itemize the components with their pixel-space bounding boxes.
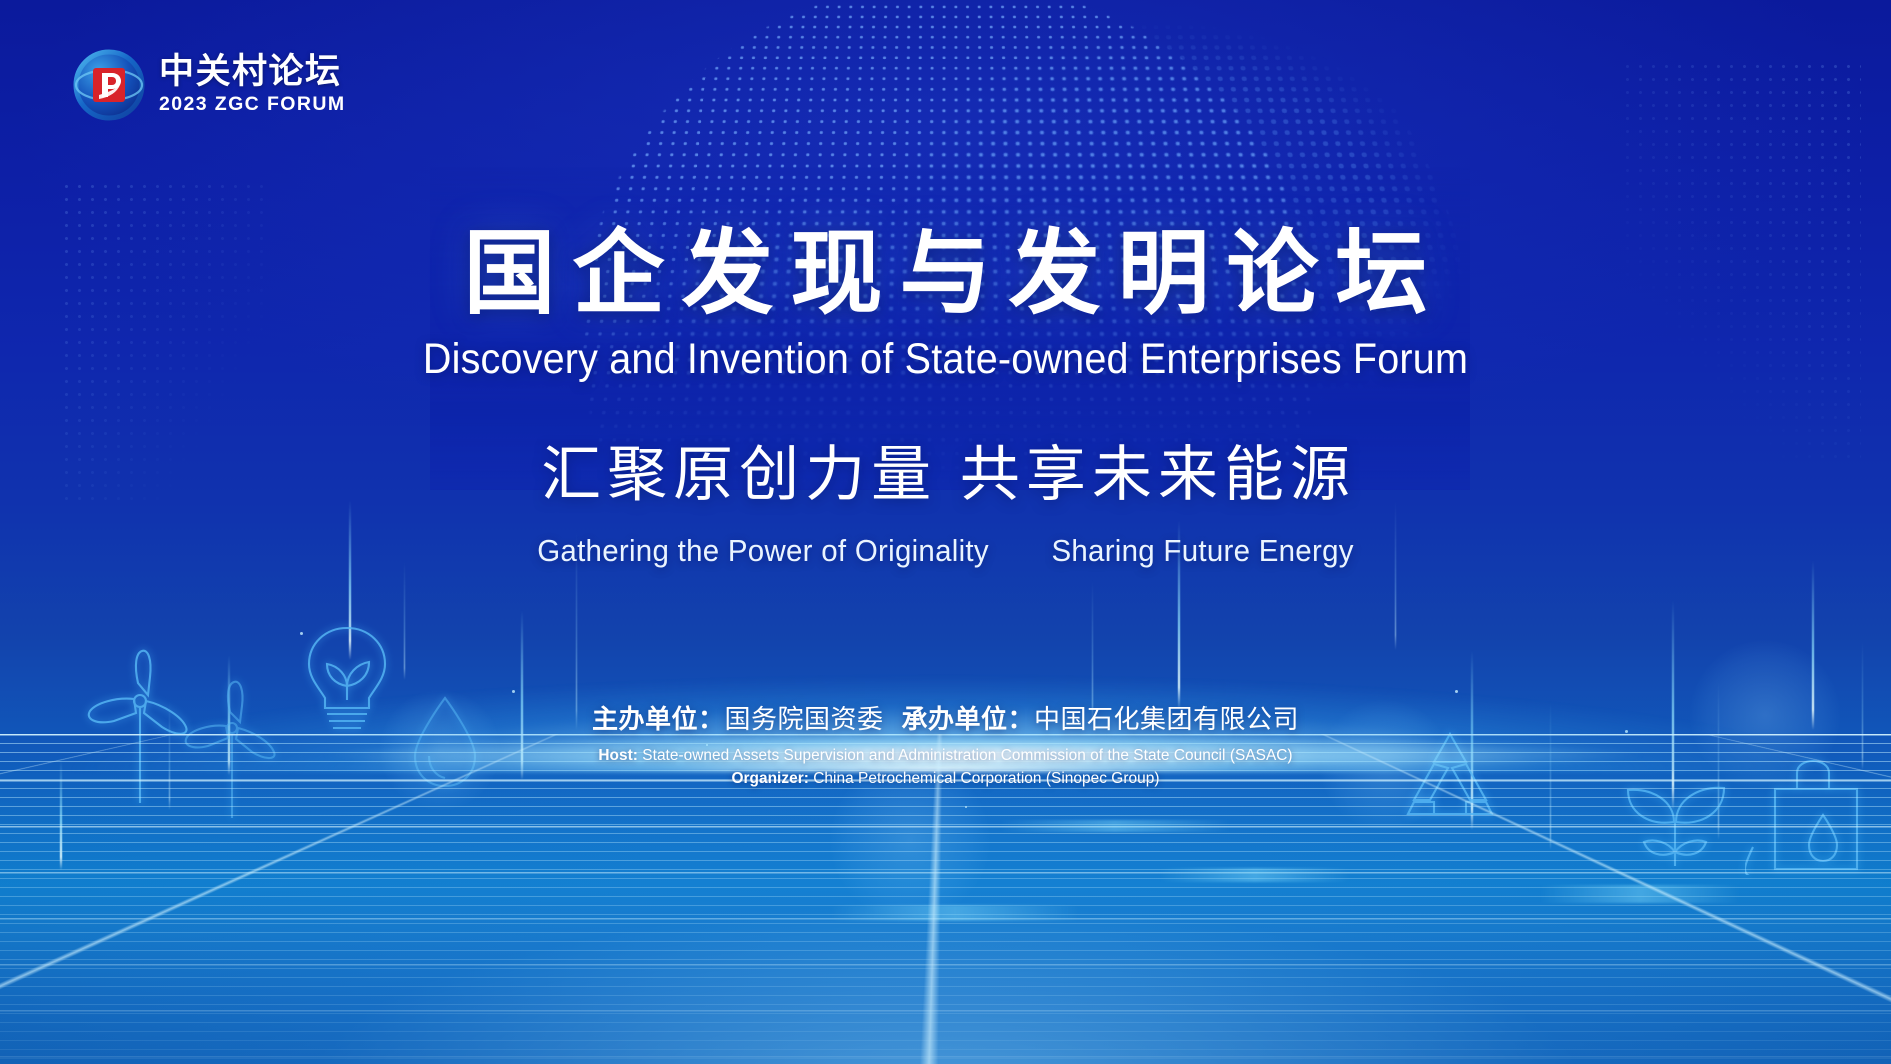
credits-block: 主办单位：国务院国资委承办单位：中国石化集团有限公司 Host: State-o…: [0, 702, 1891, 790]
host-value-cn: 国务院国资委: [724, 704, 883, 734]
floor-highlight-slab: [1000, 820, 1230, 832]
credits-en-organizer: Organizer: China Petrochemical Corporati…: [0, 767, 1891, 790]
hero-text-block: 国企发现与发明论坛 Discovery and Invention of Sta…: [0, 0, 1891, 569]
organizer-value-cn: 中国石化集团有限公司: [1034, 704, 1299, 734]
page-title-cn: 国企发现与发明论坛: [0, 228, 1891, 322]
page-title-en: Discovery and Invention of State-owned E…: [66, 336, 1825, 384]
floor-highlight-slab: [1160, 868, 1350, 882]
organizer-value-en: China Petrochemical Corporation (Sinopec…: [813, 770, 1159, 787]
slogan-en-right: Sharing Future Energy: [1051, 533, 1353, 568]
floor-highlight-slab: [1540, 885, 1740, 903]
credits-en-host: Host: State-owned Assets Supervision and…: [0, 744, 1891, 767]
host-value-en: State-owned Assets Supervision and Admin…: [642, 747, 1292, 764]
poster-canvas: 中关村论坛 2023 ZGC FORUM 国企发现与发明论坛 Discovery…: [0, 0, 1891, 1064]
credits-cn-line: 主办单位：国务院国资委承办单位：中国石化集团有限公司: [0, 702, 1891, 737]
organizer-label-en: Organizer:: [731, 770, 808, 787]
slogan-en-left: Gathering the Power of Originality: [537, 533, 989, 568]
host-label-cn: 主办单位：: [592, 704, 725, 734]
floor-highlight-slab: [830, 905, 1080, 921]
slogan-cn: 汇聚原创力量 共享未来能源: [0, 426, 1891, 513]
host-label-en: Host:: [598, 747, 638, 764]
slogan-en: Gathering the Power of Originality Shari…: [47, 533, 1843, 569]
organizer-label-cn: 承办单位：: [902, 704, 1035, 734]
